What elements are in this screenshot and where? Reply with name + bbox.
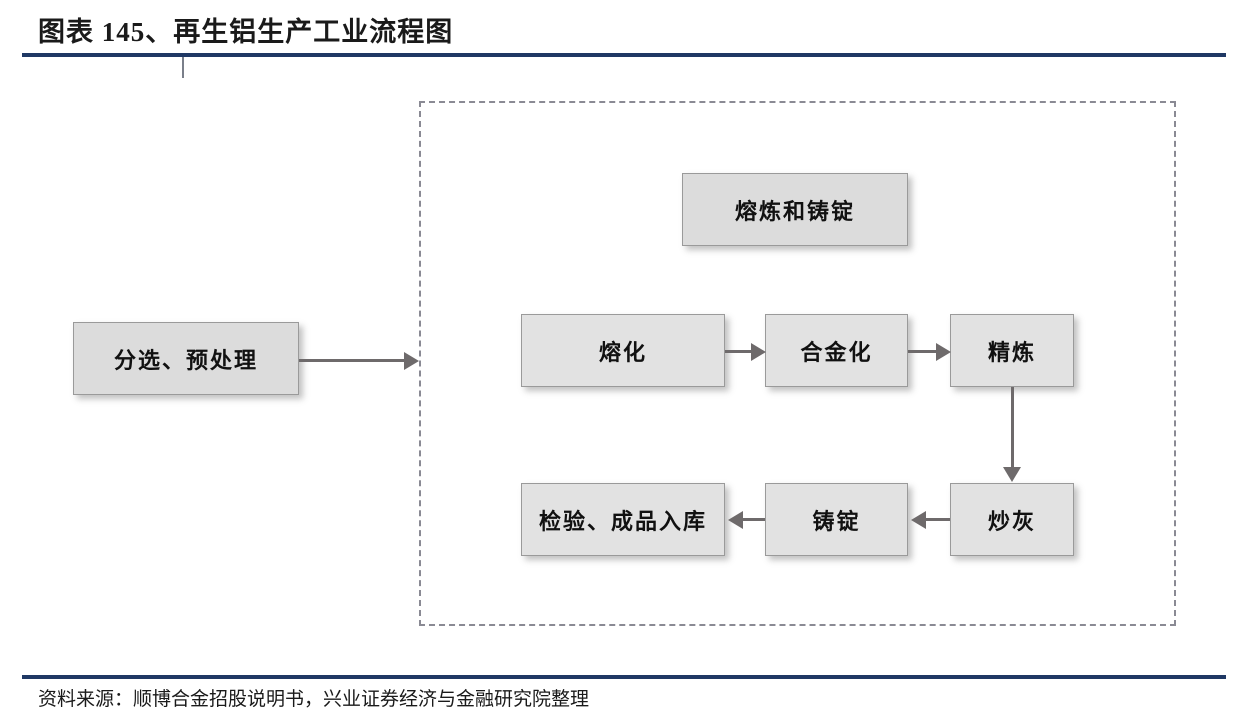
- node-melting-label: 熔化: [599, 335, 647, 367]
- edge-alloying-to-refining-arrowhead: [936, 343, 951, 361]
- title-divider-tick: [182, 57, 184, 78]
- node-sorting-label: 分选、预处理: [114, 343, 258, 375]
- node-alloying-label: 合金化: [800, 335, 872, 367]
- flowchart-figure: 图表 145、再生铝生产工业流程图 分选、预处理 熔炼和铸锭 熔化 合金化 精炼…: [0, 0, 1248, 716]
- node-sorting[interactable]: 分选、预处理: [73, 322, 299, 395]
- edge-sorting-to-group-arrowhead: [404, 352, 419, 370]
- edge-refining-to-ash-frying-arrowhead: [1003, 467, 1021, 482]
- edge-refining-to-ash-frying: [1011, 387, 1014, 467]
- node-refining-label: 精炼: [988, 335, 1036, 367]
- source-note: 资料来源：顺博合金招股说明书，兴业证券经济与金融研究院整理: [38, 684, 589, 711]
- edge-melting-to-alloying-arrowhead: [751, 343, 766, 361]
- edge-alloying-to-refining: [908, 350, 936, 353]
- node-alloying[interactable]: 合金化: [765, 314, 908, 387]
- edge-ash-frying-to-ingot-casting-arrowhead: [911, 511, 926, 529]
- node-smelting-casting-group-label: 熔炼和铸锭: [735, 194, 855, 226]
- edge-ingot-casting-to-inspection: [743, 518, 765, 521]
- node-inspection-storage-label: 检验、成品入库: [539, 504, 707, 536]
- edge-ingot-casting-to-inspection-arrowhead: [728, 511, 743, 529]
- node-inspection-storage[interactable]: 检验、成品入库: [521, 483, 725, 556]
- edge-sorting-to-group: [299, 359, 404, 362]
- node-smelting-casting-group[interactable]: 熔炼和铸锭: [682, 173, 908, 246]
- node-ingot-casting-label: 铸锭: [812, 504, 860, 536]
- edge-melting-to-alloying: [725, 350, 751, 353]
- node-melting[interactable]: 熔化: [521, 314, 725, 387]
- page-title: 图表 145、再生铝生产工业流程图: [38, 10, 453, 49]
- node-ingot-casting[interactable]: 铸锭: [765, 483, 908, 556]
- title-divider: [22, 53, 1226, 57]
- footer-divider: [22, 675, 1226, 679]
- edge-ash-frying-to-ingot-casting: [926, 518, 950, 521]
- node-ash-frying-label: 炒灰: [988, 504, 1036, 536]
- node-ash-frying[interactable]: 炒灰: [950, 483, 1074, 556]
- node-refining[interactable]: 精炼: [950, 314, 1074, 387]
